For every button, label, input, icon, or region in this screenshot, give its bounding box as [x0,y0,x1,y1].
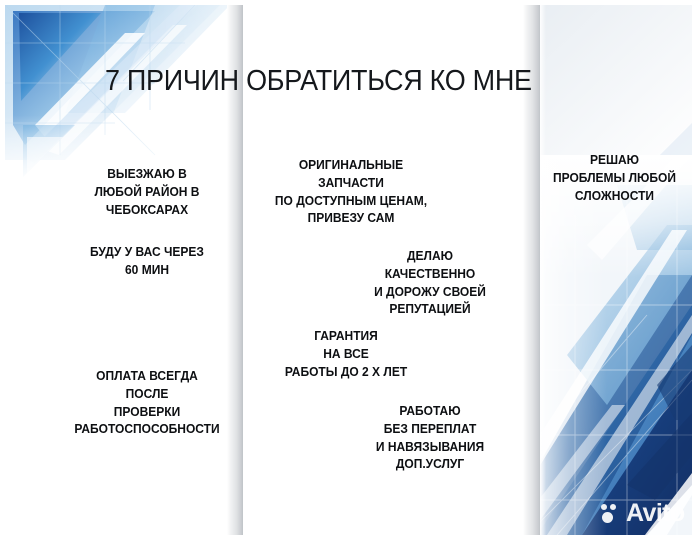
page-title: 7 ПРИЧИН ОБРАТИТЬСЯ КО МНЕ [105,65,532,98]
reason-item-any-complexity: РЕШАЮ ПРОБЛЕМЫ ЛЮБОЙ СЛОЖНОСТИ [535,152,692,205]
avito-wordmark: Avito [626,501,685,526]
avito-watermark: Avito [601,501,685,526]
reason-item-arrival-time: БУДУ У ВАС ЧЕРЕЗ 60 МИН [70,244,224,280]
reason-item-no-overpay: РАБОТАЮ БЕЗ ПЕРЕПЛАТ И НАВЯЗЫВАНИЯ ДОП.У… [339,403,521,474]
reason-item-service-area: ВЫЕЗЖАЮ В ЛЮБОЙ РАЙОН В ЧЕБОКСАРАХ [70,166,224,219]
decorative-artwork-top-right [540,5,692,155]
avito-dots-icon [601,503,622,524]
decorative-artwork-right [527,155,692,535]
reason-item-quality-reputation: ДЕЛАЮ КАЧЕСТВЕННО И ДОРОЖУ СВОЕЙ РЕПУТАЦ… [339,248,521,319]
column-separator-right-highlight [540,5,546,535]
reason-item-original-parts: ОРИГИНАЛЬНЫЕ ЗАПЧАСТИ ПО ДОСТУПНЫМ ЦЕНАМ… [255,157,447,228]
reason-item-payment-after-check: ОПЛАТА ВСЕГДА ПОСЛЕ ПРОВЕРКИ РАБОТОСПОСО… [70,368,224,439]
reason-item-warranty: ГАРАНТИЯ НА ВСЕ РАБОТЫ ДО 2 Х ЛЕТ [255,328,437,381]
poster-canvas: 7 ПРИЧИН ОБРАТИТЬСЯ КО МНЕ ВЫЕЗЖАЮ В ЛЮБ… [0,0,697,540]
poster-inner-canvas: 7 ПРИЧИН ОБРАТИТЬСЯ КО МНЕ ВЫЕЗЖАЮ В ЛЮБ… [5,5,692,535]
